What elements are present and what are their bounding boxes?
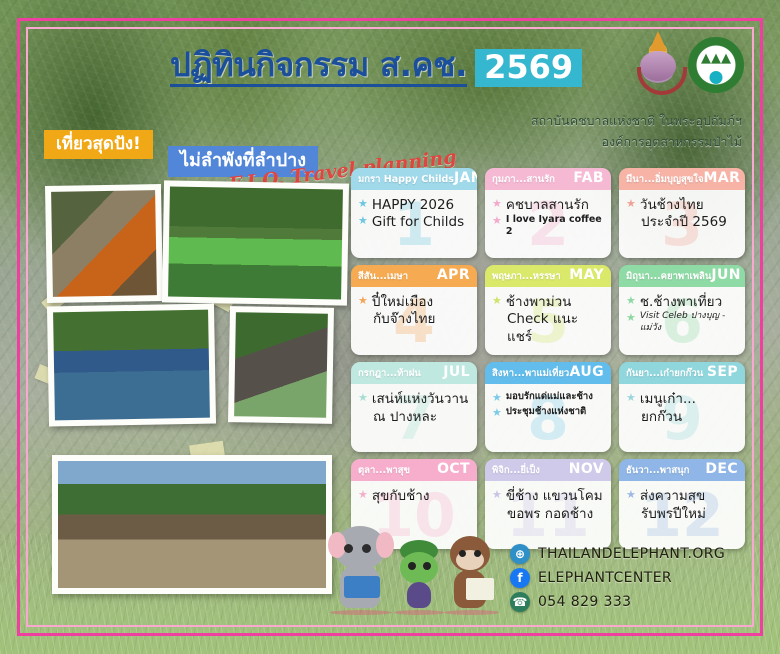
star-icon: ★ — [358, 391, 368, 406]
month-english-label: APR — [437, 267, 470, 283]
facebook-icon[interactable]: f — [510, 568, 530, 588]
mascot-group — [328, 520, 503, 612]
photo-monks-elephant-alms — [45, 184, 163, 303]
month-card-mar[interactable]: มีนา...อิ่มบุญสุขใจMAR3★วันช้างไทยประจำป… — [619, 168, 745, 258]
month-activity-item: ★คชบาลสานรัก — [492, 197, 604, 214]
month-thai-label: มีนา...อิ่มบุญสุขใจ — [626, 172, 704, 187]
month-activity-text: ปี๋ใหม่เมือง — [372, 294, 433, 311]
month-thai-label: สิงหา...พาแม่เที่ยว — [492, 366, 569, 381]
month-activity-item: ★มอบรักแด่แม่และช้าง — [492, 391, 604, 406]
month-activity-text: ส่งความสุข — [640, 488, 705, 505]
organization-names: สถาบันคชบาลแห่งชาติ ในพระอุปถัมภ์ฯ องค์ก… — [531, 110, 742, 153]
calendar-poster: ปฏิทินกิจกรรม ส.คช. 2569 ▲▲▲ สถาบันคชบาล… — [0, 0, 780, 654]
month-activity-continuation: กับจ๊างไทย — [358, 311, 470, 329]
month-activity-item: ★ขี่ช้าง แขวนโคม — [492, 488, 604, 505]
month-card-header: มีนา...อิ่มบุญสุขใจMAR — [619, 168, 745, 190]
month-card-body: 4★ปี๋ใหม่เมืองกับจ๊างไทย — [351, 287, 477, 355]
month-card-body: 7★เสน่ห์แห่งวันวานณ ปางหละ — [351, 384, 477, 452]
month-card-header: สีสัน...เมษาAPR — [351, 265, 477, 287]
month-activity-text: Visit Celeb ปางบุญ - แม่วัง — [640, 311, 738, 334]
month-card-body: 2★คชบาลสานรัก★I love Iyara coffee 2 — [485, 190, 611, 258]
month-activity-item: ★เมนูเก๋า... — [626, 391, 738, 408]
month-card-body: 9★เมนูเก๋า...ยกก๊วน — [619, 384, 745, 452]
month-activity-text: ประชุมช้างแห่งชาติ — [506, 406, 586, 418]
month-activity-continuation: ประจำปี 2569 — [626, 214, 738, 232]
org-line-1: สถาบันคชบาลแห่งชาติ ในพระอุปถัมภ์ฯ — [531, 110, 742, 131]
mascot-green-tree-character — [394, 540, 444, 612]
month-thai-label: สีสัน...เมษา — [358, 269, 408, 284]
month-card-header: มิถุนา...คยาพาเพลินJUN — [619, 265, 745, 287]
star-icon: ★ — [492, 406, 502, 421]
month-english-label: JUN — [711, 267, 741, 283]
month-card-fab[interactable]: กุมภา...สานรักFAB2★คชบาลสานรัก★I love Iy… — [485, 168, 611, 258]
month-card-body: 3★วันช้างไทยประจำปี 2569 — [619, 190, 745, 258]
month-activity-item: ★ประชุมช้างแห่งชาติ — [492, 406, 604, 421]
star-icon: ★ — [492, 391, 502, 406]
month-activity-item: ★I love Iyara coffee 2 — [492, 214, 604, 238]
month-activity-item: ★ช.ช้างพาเที่ยว — [626, 294, 738, 311]
month-activity-continuation: รับพรปีใหม่ — [626, 506, 738, 524]
month-english-label: DEC — [705, 461, 738, 477]
month-activity-item: ★ปี๋ใหม่เมือง — [358, 294, 470, 311]
month-activity-item: ★ส่งความสุข — [626, 488, 738, 505]
month-card-jan[interactable]: มกรา Happy ChildsJAN1★HAPPY 2026★Gift fo… — [351, 168, 477, 258]
star-icon: ★ — [492, 294, 502, 309]
month-activity-continuation: Check แนะ แชร์ — [492, 311, 604, 346]
month-activity-continuation: ขอพร กอดช้าง — [492, 506, 604, 524]
month-english-label: AUG — [570, 364, 604, 380]
star-icon: ★ — [358, 197, 368, 212]
month-card-header: มกรา Happy ChildsJAN — [351, 168, 477, 190]
month-activity-text: เสน่ห์แห่งวันวาน — [372, 391, 468, 408]
month-thai-label: มกรา Happy Childs — [358, 172, 454, 187]
month-activity-item: ★สุขกับช้าง — [358, 488, 470, 505]
month-english-label: SEP — [707, 364, 738, 380]
month-card-nov[interactable]: พิจิก...ยี่เป็งNOV11★ขี่ช้าง แขวนโคมขอพร… — [485, 459, 611, 549]
month-english-label: MAR — [704, 170, 741, 186]
contact-text: ELEPHANTCENTER — [538, 570, 672, 586]
month-activity-item: ★ช้างพาม่วน — [492, 294, 604, 311]
month-card-aug[interactable]: สิงหา...พาแม่เที่ยวAUG8★มอบรักแด่แม่และช… — [485, 362, 611, 452]
month-english-label: NOV — [569, 461, 604, 477]
month-card-jul[interactable]: กรกฎา...ท้าฝนJUL7★เสน่ห์แห่งวันวานณ ปางห… — [351, 362, 477, 452]
star-icon: ★ — [626, 197, 636, 212]
month-card-header: พฤษภา...หรรษาMAY — [485, 265, 611, 287]
org-line-2: องค์การอุตสาหกรรมป่าไม้ — [531, 131, 742, 152]
month-english-label: MAY — [569, 267, 604, 283]
contact-row[interactable]: fELEPHANTCENTER — [510, 568, 738, 588]
month-english-label: FAB — [573, 170, 604, 186]
star-icon: ★ — [626, 311, 636, 326]
star-icon: ★ — [358, 488, 368, 503]
month-thai-label: ตุลา...พาสุข — [358, 463, 410, 478]
month-card-dec[interactable]: ธันวา...พาสนุกDEC12★ส่งความสุขรับพรปีใหม… — [619, 459, 745, 549]
phone-icon[interactable]: ☎ — [510, 592, 530, 612]
month-activity-text: สุขกับช้าง — [372, 488, 430, 505]
month-activity-text: เมนูเก๋า... — [640, 391, 696, 408]
month-activity-text: ขี่ช้าง แขวนโคม — [506, 488, 603, 505]
website-globe-icon[interactable]: ⊕ — [510, 544, 530, 564]
month-card-header: สิงหา...พาแม่เที่ยวAUG — [485, 362, 611, 384]
month-card-header: กันยา...เก๋ายกก๊วนSEP — [619, 362, 745, 384]
month-thai-label: พิจิก...ยี่เป็ง — [492, 463, 540, 478]
month-activity-item: ★HAPPY 2026 — [358, 197, 470, 214]
month-activity-item: ★Gift for Childs — [358, 214, 470, 231]
contact-text: THAILANDELEPHANT.ORG — [538, 546, 725, 562]
month-activity-text: คชบาลสานรัก — [506, 197, 589, 214]
month-activity-text: Gift for Childs — [372, 214, 464, 231]
month-activity-continuation: ณ ปางหละ — [358, 409, 470, 427]
month-thai-label: พฤษภา...หรรษา — [492, 269, 561, 284]
star-icon: ★ — [358, 294, 368, 309]
star-icon: ★ — [626, 488, 636, 503]
badge-travel-highlight: เที่ยวสุดปัง! — [44, 130, 153, 159]
star-icon: ★ — [358, 214, 368, 229]
mascot-horse-with-map — [444, 534, 499, 612]
month-thai-label: กุมภา...สานรัก — [492, 172, 555, 187]
contact-text: 054 829 333 — [538, 594, 631, 610]
mascot-elephant-with-book — [330, 524, 392, 612]
organization-logos: ▲▲▲ — [634, 33, 744, 95]
star-icon: ★ — [626, 391, 636, 406]
month-activity-text: ช.ช้างพาเที่ยว — [640, 294, 722, 311]
month-card-header: พิจิก...ยี่เป็งNOV — [485, 459, 611, 481]
photo-elephants-bathing-river — [47, 304, 216, 427]
month-thai-label: กรกฎา...ท้าฝน — [358, 366, 421, 381]
contact-info-list: ⊕THAILANDELEPHANT.ORGfELEPHANTCENTER☎054… — [510, 544, 738, 616]
month-english-label: JAN — [454, 170, 477, 186]
title-year-badge: 2569 — [475, 49, 582, 87]
month-thai-label: ธันวา...พาสนุก — [626, 463, 689, 478]
star-icon: ★ — [492, 197, 502, 212]
photo-elephant-painting-easel — [228, 306, 334, 424]
month-activity-continuation: ยกก๊วน — [626, 409, 738, 427]
fio-green-seal-icon: ▲▲▲ — [688, 37, 744, 93]
month-card-body: 6★ช.ช้างพาเที่ยว★Visit Celeb ปางบุญ - แม… — [619, 287, 745, 355]
month-activity-text: HAPPY 2026 — [372, 197, 454, 214]
month-card-header: กุมภา...สานรักFAB — [485, 168, 611, 190]
month-card-sep[interactable]: กันยา...เก๋ายกก๊วนSEP9★เมนูเก๋า...ยกก๊วน — [619, 362, 745, 452]
title-thai-text: ปฏิทินกิจกรรม ส.คช. — [170, 48, 467, 87]
month-card-may[interactable]: พฤษภา...หรรษาMAY5★ช้างพาม่วนCheck แนะ แช… — [485, 265, 611, 355]
poster-title: ปฏิทินกิจกรรม ส.คช. 2569 — [170, 48, 582, 87]
month-english-label: JUL — [443, 364, 470, 380]
star-icon: ★ — [492, 488, 502, 503]
month-card-body: 12★ส่งความสุขรับพรปีใหม่ — [619, 481, 745, 549]
month-card-body: 11★ขี่ช้าง แขวนโคมขอพร กอดช้าง — [485, 481, 611, 549]
month-activity-text: วันช้างไทย — [640, 197, 704, 214]
photo-crowd-green-chairs — [162, 180, 349, 305]
month-card-body: 5★ช้างพาม่วนCheck แนะ แชร์ — [485, 287, 611, 355]
month-thai-label: กันยา...เก๋ายกก๊วน — [626, 366, 703, 381]
month-activity-text: I love Iyara coffee 2 — [506, 214, 604, 238]
star-icon: ★ — [492, 214, 502, 229]
month-activity-item: ★วันช้างไทย — [626, 197, 738, 214]
month-card-apr[interactable]: สีสัน...เมษาAPR4★ปี๋ใหม่เมืองกับจ๊างไทย — [351, 265, 477, 355]
contact-row[interactable]: ⊕THAILANDELEPHANT.ORG — [510, 544, 738, 564]
month-card-body: 1★HAPPY 2026★Gift for Childs — [351, 190, 477, 258]
month-english-label: OCT — [437, 461, 470, 477]
month-card-header: ธันวา...พาสนุกDEC — [619, 459, 745, 481]
month-activity-text: ช้างพาม่วน — [506, 294, 572, 311]
month-card-grid: มกรา Happy ChildsJAN1★HAPPY 2026★Gift fo… — [351, 168, 747, 549]
month-card-jun[interactable]: มิถุนา...คยาพาเพลินJUN6★ช.ช้างพาเที่ยว★V… — [619, 265, 745, 355]
month-card-body: 8★มอบรักแด่แม่และช้าง★ประชุมช้างแห่งชาติ — [485, 384, 611, 452]
month-card-header: กรกฎา...ท้าฝนJUL — [351, 362, 477, 384]
month-thai-label: มิถุนา...คยาพาเพลิน — [626, 269, 711, 284]
photo-mahouts-elephants-lineup — [52, 455, 332, 594]
month-activity-text: มอบรักแด่แม่และช้าง — [506, 391, 593, 403]
contact-row[interactable]: ☎054 829 333 — [510, 592, 738, 612]
month-activity-item: ★เสน่ห์แห่งวันวาน — [358, 391, 470, 408]
royal-crest-emblem-icon — [634, 33, 682, 95]
month-card-header: ตุลา...พาสุขOCT — [351, 459, 477, 481]
star-icon: ★ — [626, 294, 636, 309]
month-activity-item: ★Visit Celeb ปางบุญ - แม่วัง — [626, 311, 738, 334]
